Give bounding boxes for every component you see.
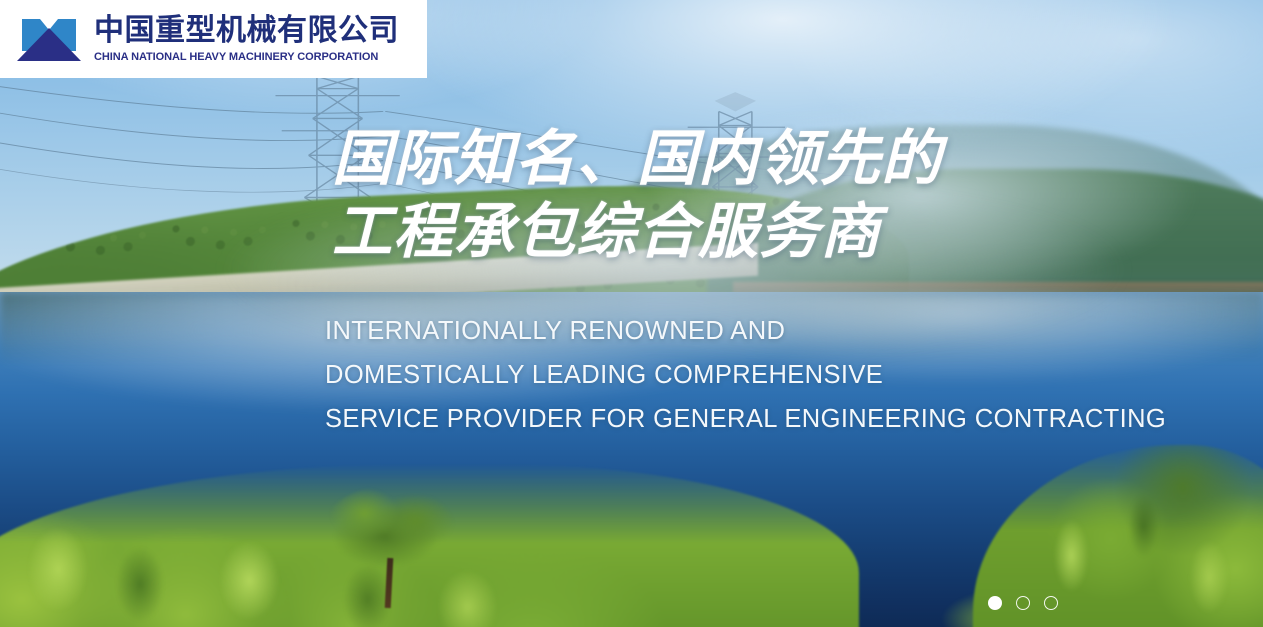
headline-block: 国际知名、国内领先的 工程承包综合服务商 xyxy=(332,122,972,268)
lone-tree-crown xyxy=(322,486,455,568)
carousel-dot-2[interactable] xyxy=(1016,596,1030,610)
hero-banner: 中国重型机械有限公司 CHINA NATIONAL HEAVY MACHINER… xyxy=(0,0,1263,627)
mountain-logo-icon xyxy=(12,11,86,67)
subtitle-line-3: SERVICE PROVIDER FOR GENERAL ENGINEERING… xyxy=(325,398,1155,442)
company-name-cn: 中国重型机械有限公司 xyxy=(94,14,399,48)
company-logo-plate[interactable]: 中国重型机械有限公司 CHINA NATIONAL HEAVY MACHINER… xyxy=(0,0,427,78)
subtitle-line-2: DOMESTICALLY LEADING COMPREHENSIVE xyxy=(325,354,1155,398)
logo-text-block: 中国重型机械有限公司 CHINA NATIONAL HEAVY MACHINER… xyxy=(94,14,399,64)
carousel-dot-3[interactable] xyxy=(1044,596,1058,610)
carousel-pagination xyxy=(988,596,1058,610)
subtitle-block: INTERNATIONALLY RENOWNED AND DOMESTICALL… xyxy=(325,310,1155,442)
carousel-dot-1[interactable] xyxy=(988,596,1002,610)
company-name-en: CHINA NATIONAL HEAVY MACHINERY CORPORATI… xyxy=(94,51,394,64)
headline-line-1: 国际知名、国内领先的 xyxy=(332,122,972,195)
subtitle-line-1: INTERNATIONALLY RENOWNED AND xyxy=(325,310,1155,354)
headline-line-2: 工程承包综合服务商 xyxy=(332,195,972,268)
